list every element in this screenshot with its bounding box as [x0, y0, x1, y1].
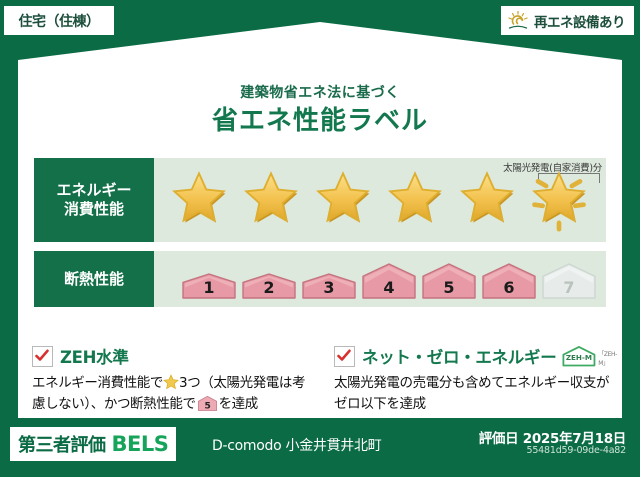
star-filled	[308, 165, 378, 235]
star-filled	[236, 165, 306, 235]
label-card: 建築物省エネ法に基づく 省エネ性能ラベル エネルギー 消費性能 太陽光発電(自家…	[18, 22, 622, 418]
label-subtitle: 建築物省エネ法に基づく	[18, 82, 622, 102]
bels-badge: 第三者評価 BELS	[10, 427, 176, 461]
star-filled	[380, 165, 450, 235]
row-insulation-label: 断熱性能	[34, 251, 154, 307]
bels-en-label: BELS	[112, 432, 169, 456]
insulation-badge-number: 2	[240, 278, 298, 297]
criteria-net-zero-body: 太陽光発電の売電分も含めてエネルギー収支がゼロ以下を達成	[334, 373, 612, 415]
insulation-badge-number: 1	[180, 278, 238, 297]
insulation-badge-number: 4	[360, 278, 418, 297]
svg-text:5: 5	[204, 401, 210, 411]
star-filled	[452, 165, 522, 235]
bels-jp-label: 第三者評価	[18, 431, 106, 457]
svg-text:ZEH-M: ZEH-M	[566, 353, 592, 362]
insulation-badge-active: 4	[360, 261, 418, 301]
evaluation-id: 55481d59-09de-4a82	[526, 445, 626, 456]
star-filled	[164, 165, 234, 235]
insulation-badge-active: 5	[420, 261, 478, 301]
insulation-badge-number: 5	[420, 278, 478, 297]
criteria-net-zero-title: ネット・ゼロ・エネルギー	[362, 344, 556, 368]
insulation-badge-active: 6	[480, 261, 538, 301]
zeh-m-logo: ZEH-M 「ZEH-M」	[561, 343, 623, 370]
inline-grade-badge: 5	[197, 395, 218, 411]
row-insulation-body: 1234567	[154, 251, 606, 307]
criteria-section: ZEH水準 エネルギー消費性能で 3つ（太陽光発電は考慮しない）、かつ断熱性能で…	[18, 344, 622, 415]
row-insulation-performance: 断熱性能 1234567	[34, 251, 606, 307]
criteria-net-zero: ネット・ゼロ・エネルギー ZEH-M 「ZEH-M」 太陽光発電の売電分も含めて…	[320, 344, 622, 415]
renewable-badge-label: 再エネ設備あり	[534, 11, 625, 31]
row-energy-performance: エネルギー 消費性能 太陽光発電(自家消費)分	[34, 158, 606, 242]
row-energy-body: 太陽光発電(自家消費)分	[154, 158, 606, 242]
row-energy-label: エネルギー 消費性能	[34, 158, 154, 242]
category-tag-label: 住宅（住棟）	[19, 11, 100, 31]
energy-label-root: 住宅（住棟） 再エネ設備あり 建築物省エネ法に基づく 省エネ性能ラベル	[0, 0, 640, 477]
category-tag: 住宅（住棟）	[4, 6, 114, 35]
checkbox-net-zero-icon	[334, 346, 355, 367]
criteria-zeh-title: ZEH水準	[60, 344, 129, 368]
inline-star-icon	[163, 374, 179, 390]
checkbox-zeh-icon	[32, 346, 53, 367]
zeh-m-caption: 「ZEH-M」	[598, 349, 623, 370]
criteria-zeh: ZEH水準 エネルギー消費性能で 3つ（太陽光発電は考慮しない）、かつ断熱性能で…	[18, 344, 320, 415]
star-rating	[164, 158, 594, 242]
insulation-badge-inactive: 7	[540, 261, 598, 301]
performance-rows: エネルギー 消費性能 太陽光発電(自家消費)分 断熱性能 1234567	[34, 158, 606, 316]
insulation-grade-badges: 1234567	[180, 261, 598, 301]
zeh-m-house-icon: ZEH-M	[561, 343, 597, 370]
footer: 第三者評価 BELS D-comodo 小金井貫井北町 評価日 2025年7月1…	[0, 419, 640, 477]
criteria-zeh-head: ZEH水準	[32, 344, 310, 368]
sun-solar-icon	[507, 11, 529, 31]
insulation-badge-number: 3	[300, 278, 358, 297]
insulation-badge-active: 3	[300, 271, 358, 301]
insulation-badge-number: 6	[480, 278, 538, 297]
evaluation-date: 評価日 2025年7月18日	[479, 427, 626, 447]
renewable-equipment-badge: 再エネ設備あり	[501, 6, 634, 35]
insulation-badge-number: 7	[540, 278, 598, 297]
criteria-zeh-body: エネルギー消費性能で 3つ（太陽光発電は考慮しない）、かつ断熱性能で 5を達成	[32, 373, 310, 415]
criteria-net-zero-head: ネット・ゼロ・エネルギー ZEH-M 「ZEH-M」	[334, 344, 612, 368]
insulation-badge-active: 1	[180, 271, 238, 301]
insulation-badge-active: 2	[240, 271, 298, 301]
building-name: D-comodo 小金井貫井北町	[212, 435, 381, 455]
star-solar	[524, 165, 594, 235]
label-title: 省エネ性能ラベル	[18, 100, 622, 137]
